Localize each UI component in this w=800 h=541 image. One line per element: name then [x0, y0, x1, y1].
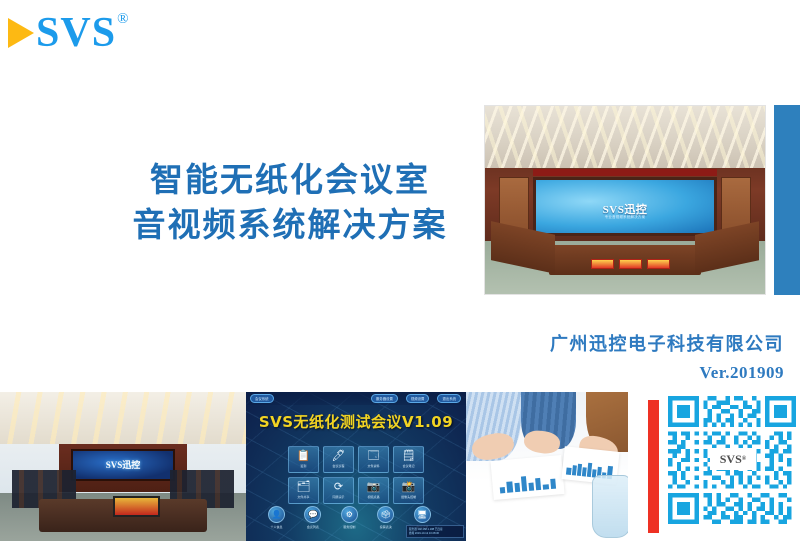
user-icon: 👤	[268, 506, 285, 523]
hero-ceiling	[485, 106, 765, 170]
hero-desk-flag	[647, 259, 669, 268]
folder-icon: 🗂	[296, 482, 310, 493]
c2-top-bar: 会议系统 服务器设置 视频设置 退出系统	[246, 392, 466, 405]
blue-accent-bar	[774, 105, 800, 295]
c2-dock-vote[interactable]: 🗳 投票表决	[377, 506, 394, 529]
qr-code-wrapper: SVS®	[668, 396, 796, 536]
c2-exit-button[interactable]: 退出系统	[437, 394, 461, 403]
c2-video-settings-button[interactable]: 视频设置	[406, 394, 430, 403]
c2-tile-label: 摄像头控制	[401, 495, 416, 499]
clipboard-icon: 📋	[296, 451, 310, 462]
c2-tile-file-share[interactable]: 🗂 文件共享	[288, 477, 319, 504]
registered-trademark-icon: ®	[117, 11, 128, 28]
c2-tile-signin[interactable]: 📋 签到	[288, 446, 319, 473]
c2-dock-profile[interactable]: 👤 个人信息	[268, 506, 285, 529]
page-title: 智能无纸化会议室 音视频系统解决方案	[95, 158, 485, 248]
c3-chart-paper	[490, 455, 564, 500]
c3-water-glass	[592, 475, 628, 538]
strip-qr-panel: SVS®	[628, 392, 800, 541]
svs-logo: SVS ®	[8, 12, 127, 54]
c2-status-line: 终端 2019-10-12 10:28:36	[409, 532, 461, 536]
monitor-icon: 🖥	[414, 506, 431, 523]
c2-dock-service-control[interactable]: ⚙ 服务控制	[341, 506, 358, 529]
page-title-line-1: 智能无纸化会议室	[95, 158, 485, 203]
hero-conference-room-image: SVS迅控 专业音视频系统解决方案	[484, 105, 766, 295]
strip-image-business-meeting	[466, 392, 628, 541]
chat-icon: 💬	[304, 506, 321, 523]
c2-dock-label: 服务控制	[343, 525, 355, 529]
gear-icon: ⚙	[341, 506, 358, 523]
page-title-line-2: 音视频系统解决方案	[95, 203, 485, 248]
qr-center-brand: SVS®	[710, 448, 756, 470]
c2-tile-label: 文件共享	[297, 495, 309, 499]
qr-center-trademark: ®	[742, 456, 746, 462]
c1-ceiling	[0, 392, 246, 446]
c2-tile-notes[interactable]: 🗒 会议笔记	[393, 446, 424, 473]
camera-control-icon: 📸	[402, 482, 416, 493]
hero-desk-flag	[591, 259, 613, 268]
vote-icon: 🗳	[377, 506, 394, 523]
refresh-icon: ⟳	[334, 482, 343, 493]
c2-server-settings-button[interactable]: 服务器设置	[371, 394, 398, 403]
c2-tile-documents[interactable]: 🗔 文件资料	[358, 446, 389, 473]
camera-icon: 📷	[367, 482, 381, 493]
c2-tile-label: 会议笔记	[403, 464, 415, 468]
hero-led-screen: SVS迅控 专业音视频系统解决方案	[533, 177, 718, 235]
hero-banner	[533, 169, 718, 177]
c2-tile-label: 签到	[300, 464, 306, 468]
c2-tile-label: 会议议程	[332, 464, 344, 468]
c1-led-screen: SVS迅控	[71, 449, 174, 482]
c2-dock-meeting-list[interactable]: 💬 会议列表	[304, 506, 321, 529]
hero-desk-flag	[619, 259, 641, 268]
slide-root: SVS ® 智能无纸化会议室 音视频系统解决方案 SVS迅控 专业音视频系统解决…	[0, 0, 800, 541]
version-label: Ver.201909	[700, 363, 785, 383]
c2-tile-label: 文件资料	[368, 464, 380, 468]
bottom-image-strip: SVS迅控 会议系统 服务器设置 视频设置 退出系统 SVS无纸化测试会议V1.…	[0, 392, 800, 541]
window-icon: 🗔	[368, 451, 380, 462]
c2-dock-label: 个人信息	[270, 525, 282, 529]
c2-tile-screen-share[interactable]: ⟳ 同屏演示	[323, 477, 354, 504]
red-accent-bar	[648, 400, 659, 533]
c2-dock-label: 投票表决	[380, 525, 392, 529]
c2-feature-tile-grid: 📋 签到 🖊 会议议程 🗔 文件资料 🗒 会议笔记 🗂 文件共享	[288, 446, 424, 504]
company-name: 广州迅控电子科技有限公司	[550, 330, 784, 356]
logo-wordmark: SVS	[36, 12, 116, 54]
c2-status-panel: 服务器 192.168.1.188 已连接 终端 2019-10-12 10:2…	[406, 525, 464, 538]
pen-icon: 🖊	[331, 451, 345, 462]
hero-screen-subtitle: 专业音视频系统解决方案	[536, 214, 715, 219]
qr-center-label: SVS	[720, 452, 742, 467]
c1-flag-display	[113, 496, 160, 517]
c2-tile-video[interactable]: 📷 视频点播	[358, 477, 389, 504]
c2-topbar-left-tag[interactable]: 会议系统	[250, 394, 274, 403]
c2-topbar-right-tags: 服务器设置 视频设置 退出系统	[367, 394, 461, 403]
c2-tile-label: 同屏演示	[332, 495, 344, 499]
play-triangle-icon	[8, 18, 34, 48]
note-icon: 🗒	[402, 451, 416, 462]
c2-tile-agenda[interactable]: 🖊 会议议程	[323, 446, 354, 473]
c2-app-title: SVS无纸化测试会议V1.09	[246, 411, 466, 432]
c3-bar-chart	[498, 467, 555, 493]
c1-screen-brand: SVS迅控	[73, 458, 172, 471]
strip-image-software-ui: 会议系统 服务器设置 视频设置 退出系统 SVS无纸化测试会议V1.09 📋 签…	[246, 392, 466, 541]
c2-dock-label: 会议列表	[307, 525, 319, 529]
c2-tile-camera-control[interactable]: 📸 摄像头控制	[393, 477, 424, 504]
c2-tile-label: 视频点播	[368, 495, 380, 499]
strip-image-conference-room: SVS迅控	[0, 392, 246, 541]
